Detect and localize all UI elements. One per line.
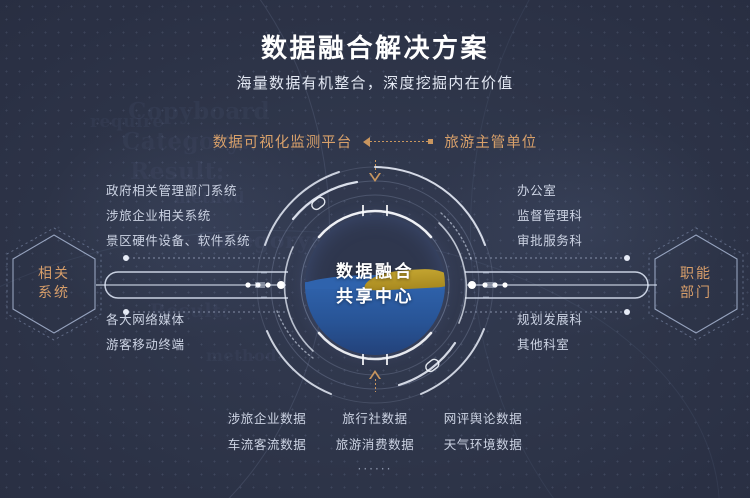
hexagon-right-line2: 部门 bbox=[680, 284, 712, 303]
ghost-text-3: require bbox=[90, 112, 164, 132]
list-item: 景区硬件设备、软件系统 bbox=[106, 228, 250, 253]
infographic-canvas: Copyboard Category: Result: require meth… bbox=[0, 0, 750, 498]
hexagon-related-systems[interactable]: 相关 系统 bbox=[8, 232, 100, 336]
hexagon-right-line1: 职能 bbox=[680, 265, 712, 284]
ghost-text-0: Copyboard bbox=[128, 98, 270, 125]
grid-ellipsis: ······ bbox=[358, 462, 393, 476]
list-item: 办公室 bbox=[517, 178, 556, 203]
hub-line1: 数据融合 bbox=[336, 260, 414, 286]
list-item: 政府相关管理部门系统 bbox=[106, 178, 237, 203]
bottom-data-grid: 涉旅企业数据 旅行社数据 网评舆论数据 车流客流数据 旅游消费数据 天气环境数据… bbox=[0, 406, 750, 476]
column-left-bottom: 各大网络媒体 游客移动终端 bbox=[106, 307, 185, 357]
column-left-top: 政府相关管理部门系统 涉旅企业相关系统 景区硬件设备、软件系统 bbox=[106, 178, 250, 253]
grid-cell: 涉旅企业数据 bbox=[213, 406, 321, 432]
hexagon-left-line1: 相关 bbox=[38, 265, 70, 284]
flow-arrow-icon bbox=[363, 137, 433, 147]
hexagon-left-line2: 系统 bbox=[38, 284, 70, 303]
list-item: 涉旅企业相关系统 bbox=[106, 203, 211, 228]
page-title: 数据融合解决方案 bbox=[0, 28, 750, 65]
hexagon-left-text: 相关 系统 bbox=[8, 232, 100, 336]
page-subtitle: 海量数据有机整合，深度挖掘内在价值 bbox=[0, 72, 750, 93]
list-item: 监督管理科 bbox=[517, 203, 583, 228]
column-right-top: 办公室 监督管理科 审批服务科 bbox=[517, 178, 583, 253]
grid-cell: 旅行社数据 bbox=[321, 406, 429, 432]
column-right-bottom: 规划发展科 其他科室 bbox=[517, 307, 583, 357]
grid-cell: 旅游消费数据 bbox=[321, 432, 429, 458]
bottom-row-2: 车流客流数据 旅游消费数据 天气环境数据 bbox=[213, 432, 537, 458]
list-item: 各大网络媒体 bbox=[106, 307, 185, 332]
label-tourism-authority: 旅游主管单位 bbox=[444, 131, 537, 152]
marker-top bbox=[362, 160, 388, 182]
bottom-row-1: 涉旅企业数据 旅行社数据 网评舆论数据 bbox=[213, 406, 537, 432]
list-item: 审批服务科 bbox=[517, 228, 583, 253]
list-item: 其他科室 bbox=[517, 332, 569, 357]
marker-bottom bbox=[362, 370, 388, 392]
label-visualization-platform: 数据可视化监测平台 bbox=[213, 131, 353, 152]
list-item: 规划发展科 bbox=[517, 307, 583, 332]
grid-cell: 网评舆论数据 bbox=[429, 406, 537, 432]
grid-cell: 车流客流数据 bbox=[213, 432, 321, 458]
grid-cell: 天气环境数据 bbox=[429, 432, 537, 458]
top-label-row: 数据可视化监测平台 旅游主管单位 bbox=[0, 131, 750, 152]
list-item: 游客移动终端 bbox=[106, 332, 185, 357]
hub-line2: 共享中心 bbox=[336, 285, 414, 311]
